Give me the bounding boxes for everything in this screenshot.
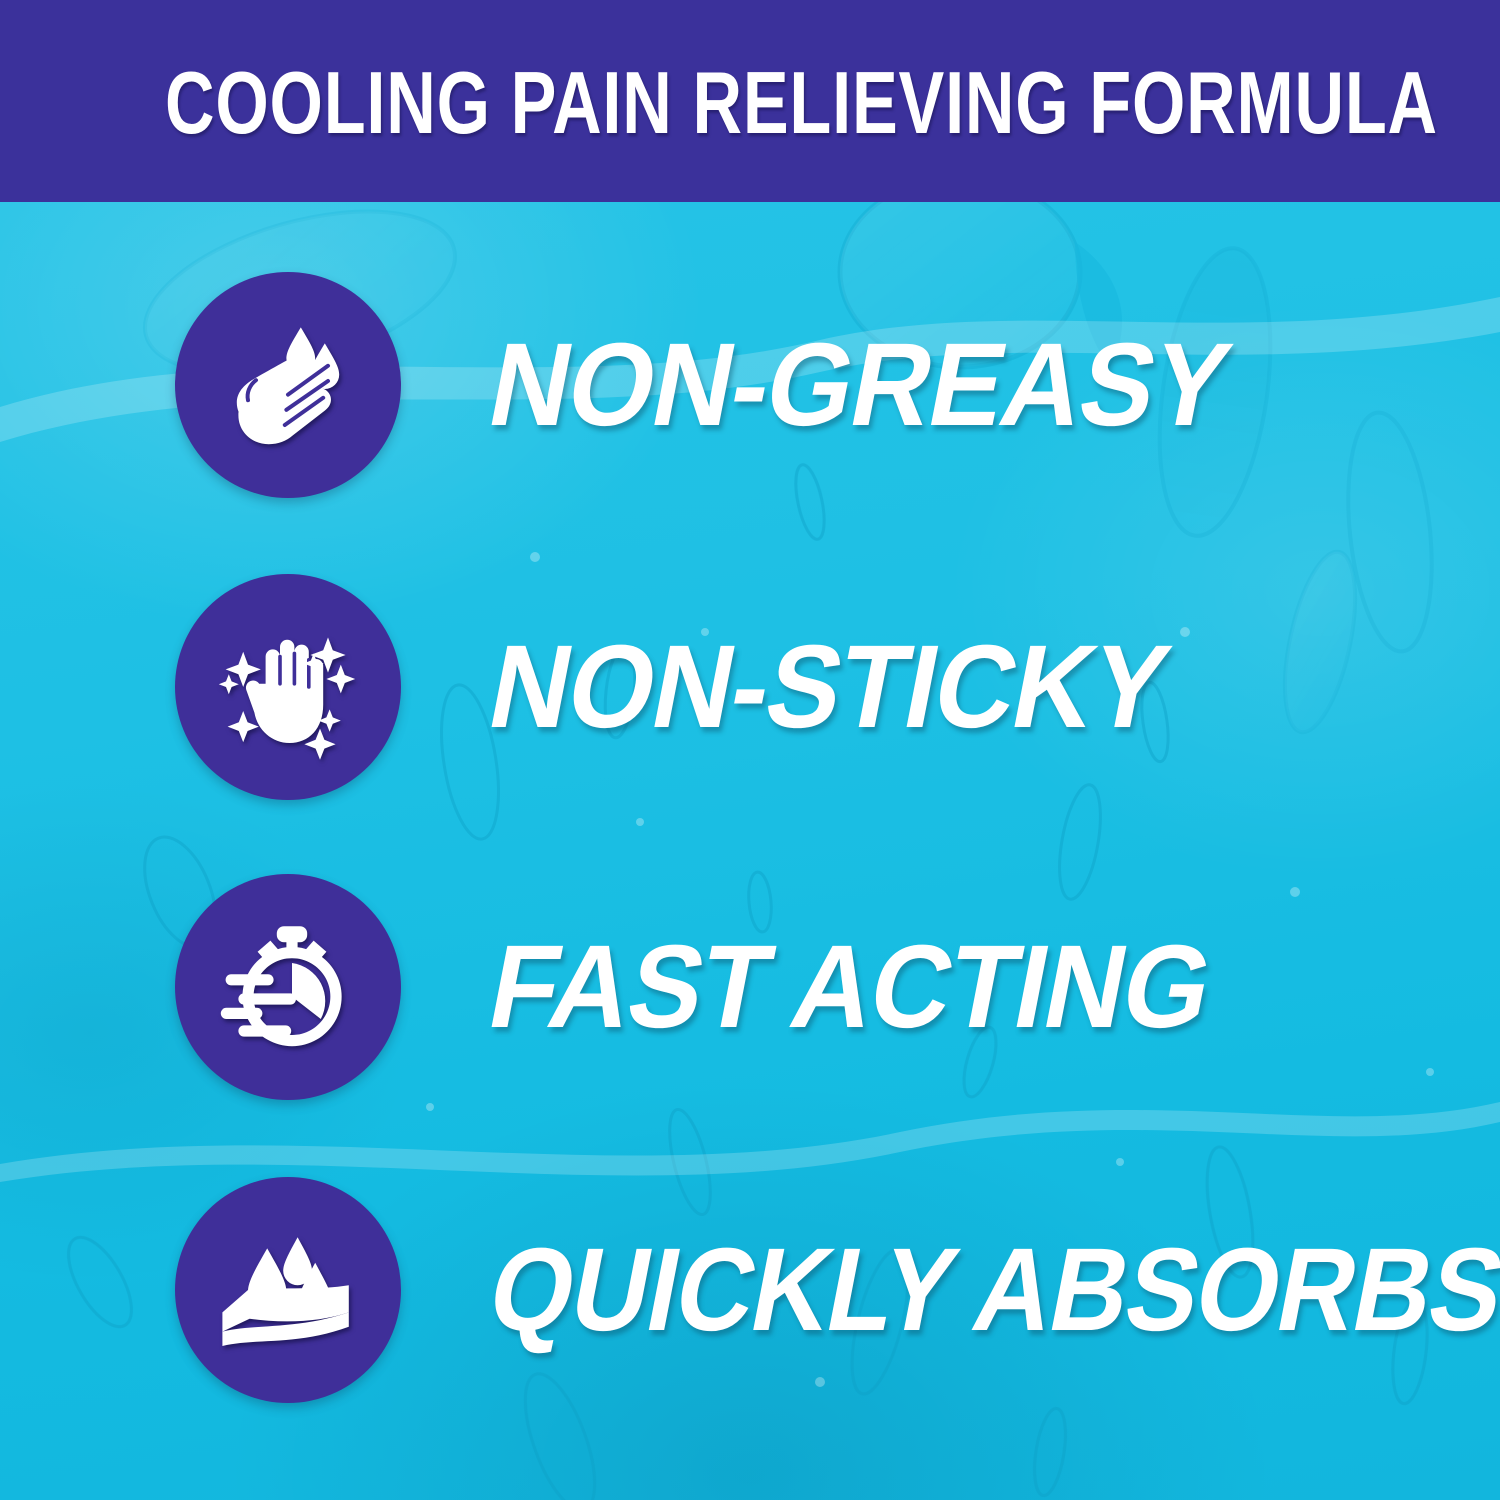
product-feature-infographic: COOLING PAIN RELIEVING FORMULA: [0, 0, 1500, 1500]
icon-badge-fast-acting: [175, 874, 401, 1100]
feature-list: NON-GREASY: [0, 202, 1500, 1500]
feature-row-quickly-absorbs: QUICKLY ABSORBS: [0, 1177, 1500, 1403]
feature-row-non-greasy: NON-GREASY: [0, 272, 1500, 498]
page-title: COOLING PAIN RELIEVING FORMULA: [165, 58, 1335, 148]
droplets-absorbing-into-surface-icon: [208, 1210, 368, 1370]
hands-rubbing-with-droplets-icon: [208, 305, 368, 465]
icon-badge-non-sticky: [175, 574, 401, 800]
feature-label-fast-acting: FAST ACTING: [480, 927, 1221, 1047]
feature-row-non-sticky: NON-STICKY: [0, 574, 1500, 800]
header-banner: COOLING PAIN RELIEVING FORMULA: [0, 0, 1500, 202]
feature-label-non-greasy: NON-GREASY: [480, 325, 1238, 445]
feature-label-non-sticky: NON-STICKY: [480, 627, 1177, 747]
open-palm-with-sparkles-icon: [208, 607, 368, 767]
icon-badge-non-greasy: [175, 272, 401, 498]
feature-label-quickly-absorbs: QUICKLY ABSORBS: [480, 1230, 1500, 1350]
icon-badge-quickly-absorbs: [175, 1177, 401, 1403]
stopwatch-with-speed-lines-icon: [208, 907, 368, 1067]
feature-row-fast-acting: FAST ACTING: [0, 874, 1500, 1100]
